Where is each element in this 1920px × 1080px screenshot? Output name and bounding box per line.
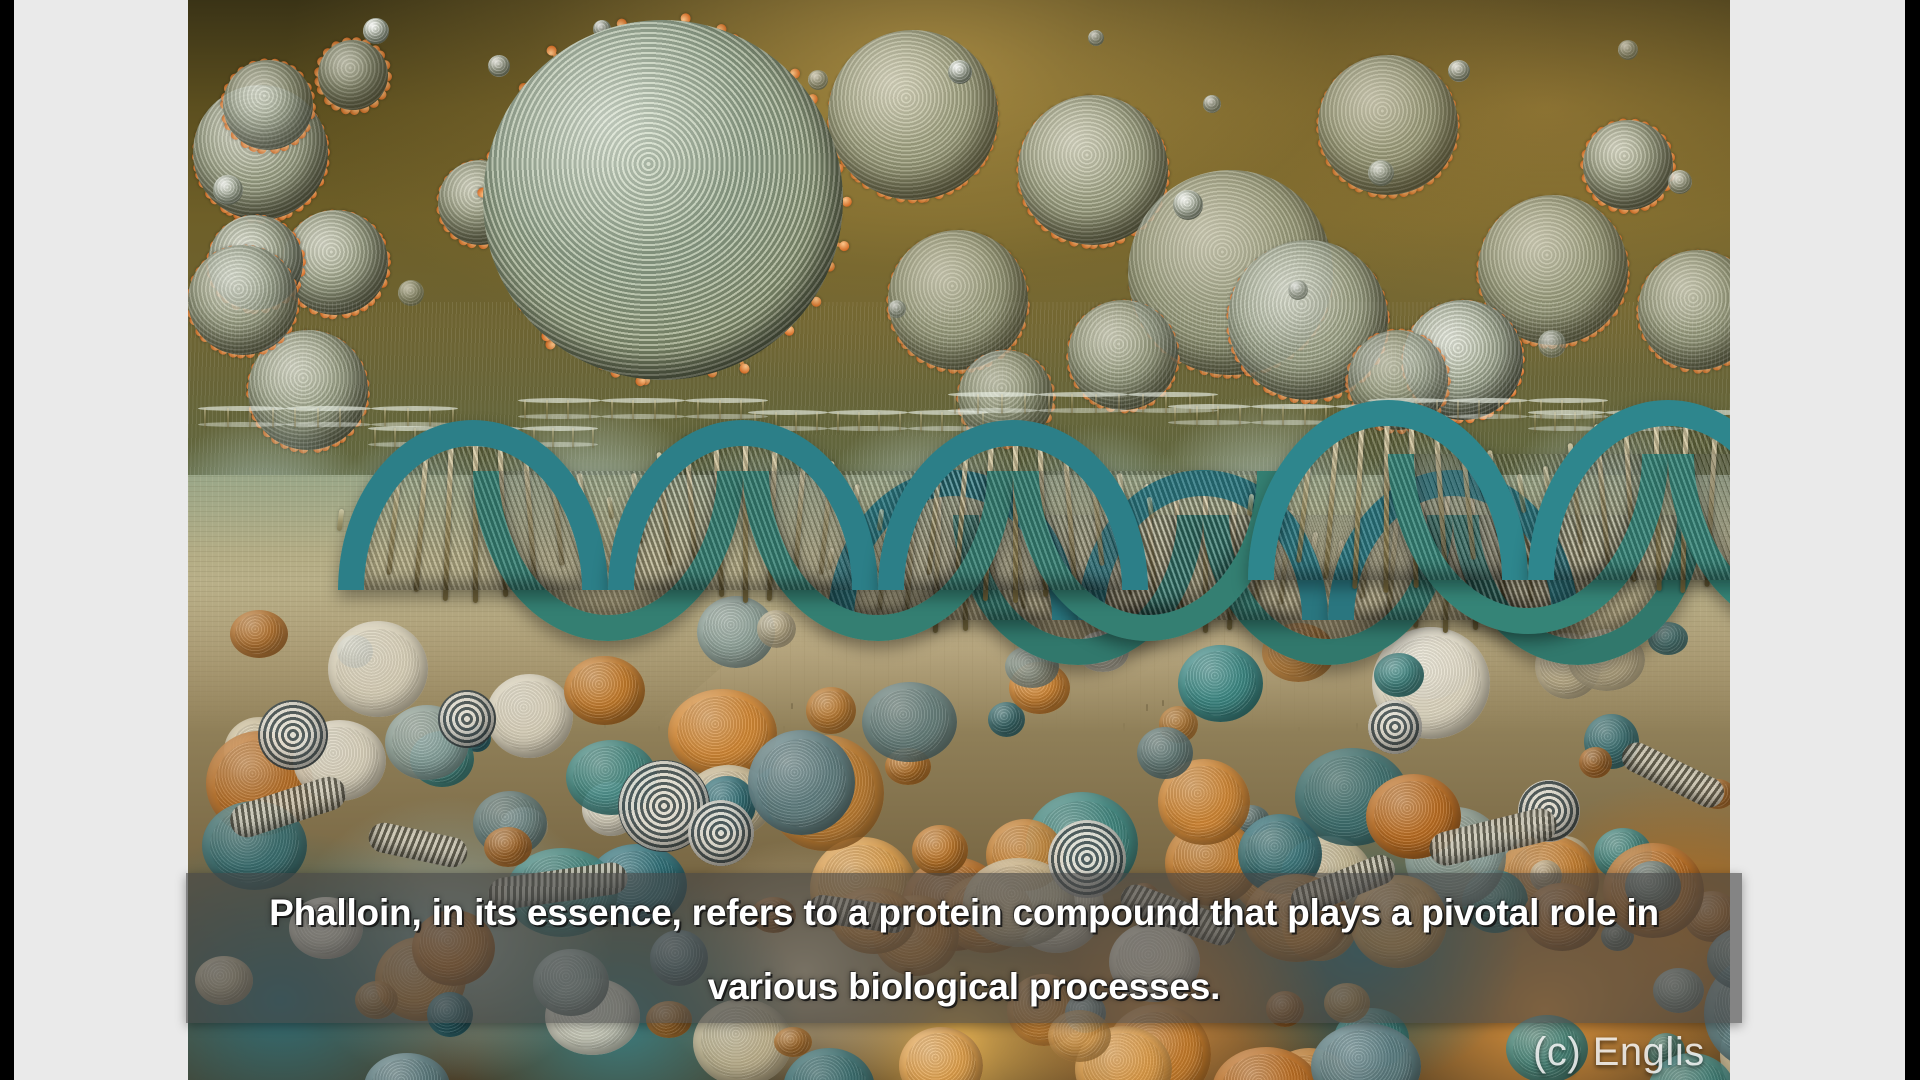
letterbox-right [1905,0,1920,1080]
organelle-blob [484,827,532,867]
helix-base-pair [1261,406,1263,426]
floating-bubble [213,175,243,205]
organelle-blob [364,1053,450,1080]
subtitle-caption-box: Phalloin, in its essence, refers to a pr… [186,873,1742,1023]
helix-base-pair [858,412,860,432]
helix-base-pair [837,412,839,432]
helix-strand-segment [1448,398,1528,403]
helix-base-pair [1142,394,1144,414]
organelle-blob [230,610,288,658]
organelle-blob [486,674,573,758]
organelle-blob [564,656,645,725]
helix-strand-segment [1448,414,1528,419]
helix-base-pair [204,408,206,428]
background-virus-particle [223,60,313,150]
helix-base-pair [1174,406,1176,426]
letterbox-left [0,0,14,1080]
spiral-shell-structure [1368,700,1422,754]
screenshot-viewport: (c) Englis Phalloin, in its essence, ref… [0,0,1920,1080]
caption-line-1: Phalloin, in its essence, refers to a pr… [186,883,1742,943]
helix-base-pair [374,428,376,448]
background-virus-body [223,60,313,150]
helix-base-pair [1534,412,1536,432]
organelle-blob [1137,727,1193,779]
organelle-blob [1579,747,1612,778]
helix-base-pair [1304,406,1306,426]
helix-base-pair [1282,406,1284,426]
caption-line-2: various biological processes. [186,957,1742,1017]
helix-base-pair [1574,412,1576,432]
helix-base-pair [272,408,274,428]
helix-base-pair [362,408,364,428]
organelle-blob [748,730,855,835]
floating-bubble [1203,95,1221,113]
helix-base-pair [1095,394,1097,414]
organelle-blob [1374,653,1424,697]
helix-base-pair [1239,406,1241,426]
helix-strand-segment [285,422,372,427]
helix-base-pair [1118,394,1120,414]
organelle-blob [1506,1015,1588,1080]
helix-base-pair [1048,394,1050,414]
helix-base-pair [1457,400,1459,420]
floating-bubble [363,18,389,44]
floating-bubble [1173,190,1203,220]
floating-bubble [1618,40,1638,60]
organelle-blob [757,610,796,648]
helix-base-pair [294,408,296,428]
helix-base-pair [1071,394,1073,414]
floating-bubble [948,60,972,84]
floating-bubble [1668,170,1692,194]
helix-base-pair [1001,394,1003,414]
helix-base-pair [249,408,251,428]
floating-bubble [1448,60,1470,82]
helix-base-pair [1196,406,1198,426]
hero-virus-particle [483,20,843,380]
organelle-blob [899,1027,983,1080]
background-virus-body [1583,120,1673,210]
helix-base-pair [954,394,956,414]
background-virus-particle [1583,120,1673,210]
helix-base-pair [920,412,922,432]
helix-base-pair [1217,406,1219,426]
helix-base-pair [227,408,229,428]
helix-base-pair [941,412,943,432]
helix-strand-segment [285,406,372,411]
organelle-blob [774,1027,812,1057]
helix-strand-segment [828,426,908,431]
helix-base-pair [1165,394,1167,414]
helix-base-pair [1554,412,1556,432]
helix-base-pair [816,412,818,432]
organelle-blob [328,621,428,717]
helix-strand-segment [1038,408,1128,413]
helix-base-pair [1519,400,1521,420]
helix-base-pair [339,408,341,428]
helix-base-pair [317,408,319,428]
spiral-shell-structure [258,700,328,770]
hero-virus-body [483,20,843,380]
helix-strand-segment [1038,392,1128,397]
helix-strand-segment [1251,404,1334,409]
floating-bubble [1088,30,1104,46]
spiral-shell-structure [688,800,754,866]
helix-base-pair [899,412,901,432]
floating-bubble [1368,160,1394,186]
organelle-blob [912,825,968,876]
spiral-shell-structure [438,690,496,748]
helix-base-pair [1478,400,1480,420]
organelle-blob [862,682,957,762]
organelle-blob [806,687,856,734]
helix-strand-segment [828,410,908,415]
helix-base-pair [394,428,396,448]
